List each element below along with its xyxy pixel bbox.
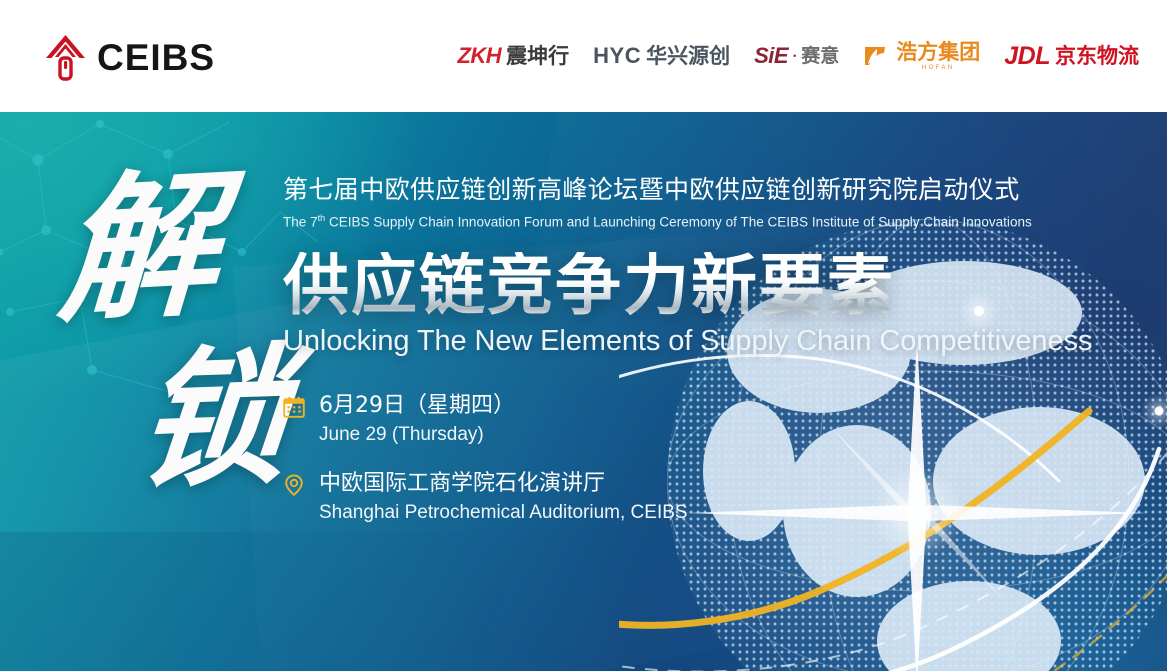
sponsor-sie-latin: SiE bbox=[754, 45, 788, 67]
event-subtitle-cn: 第七届中欧供应链创新高峰论坛暨中欧供应链创新研究院启动仪式 bbox=[283, 174, 1013, 205]
header-logo-bar: CEIBS ZKH 震坤行 HYC 华兴源创 SiE • 赛意 bbox=[0, 0, 1167, 112]
event-date-row: 6月29日（星期四） June 29 (Thursday) bbox=[283, 392, 1013, 448]
sponsor-sie-chinese: 赛意 bbox=[801, 47, 839, 66]
hofan-leaf-icon bbox=[863, 44, 889, 68]
sponsor-logo-zkh[interactable]: ZKH 震坤行 bbox=[457, 39, 569, 73]
network-nodes-icon bbox=[0, 112, 320, 402]
sponsor-zkh-latin: ZKH bbox=[457, 45, 501, 67]
sponsor-logo-sie[interactable]: SiE • 赛意 bbox=[754, 39, 839, 73]
sponsor-logo-jdl[interactable]: JDL 京东物流 bbox=[1004, 39, 1139, 73]
event-date-cn: 6月29日（星期四） bbox=[319, 392, 515, 420]
sponsor-hyc-latin: HYC bbox=[593, 45, 641, 67]
ceibs-wordmark: CEIBS bbox=[97, 39, 215, 76]
event-details: 6月29日（星期四） June 29 (Thursday) 中欧国际工商学院石化… bbox=[283, 392, 1013, 526]
event-subtitle-en: The 7th CEIBS Supply Chain Innovation Fo… bbox=[283, 213, 1013, 230]
event-title-cn: 供应链竞争力新要素 bbox=[283, 252, 1013, 319]
location-pin-icon bbox=[283, 474, 305, 496]
sponsor-zkh-chinese: 震坤行 bbox=[506, 46, 569, 67]
event-date-en: June 29 (Thursday) bbox=[319, 423, 515, 448]
calendar-icon bbox=[283, 396, 305, 418]
event-subtitle-en-pre: The 7 bbox=[283, 215, 318, 230]
event-subtitle-en-post: CEIBS Supply Chain Innovation Forum and … bbox=[325, 215, 1032, 230]
event-hero-banner: 解 锁 第七届中欧供应链创新高峰论坛暨中欧供应链创新研究院启动仪式 The 7t… bbox=[0, 112, 1167, 671]
sponsor-jdl-latin: JDL bbox=[1004, 44, 1050, 69]
sponsor-logo-hyc[interactable]: HYC 华兴源创 bbox=[593, 39, 730, 73]
sponsor-jdl-chinese: 京东物流 bbox=[1055, 46, 1139, 67]
ceibs-gate-icon bbox=[44, 32, 88, 82]
event-venue-row: 中欧国际工商学院石化演讲厅 Shanghai Petrochemical Aud… bbox=[283, 470, 1013, 526]
banner-text-content: 第七届中欧供应链创新高峰论坛暨中欧供应链创新研究院启动仪式 The 7th CE… bbox=[283, 174, 1013, 548]
ceibs-logo[interactable]: CEIBS bbox=[44, 32, 215, 82]
sponsor-sie-dot-icon: • bbox=[793, 51, 796, 61]
event-title-en: Unlocking The New Elements of Supply Cha… bbox=[283, 325, 1013, 358]
sponsor-hofan-chinese: 浩方集团 bbox=[896, 42, 980, 63]
event-venue-cn: 中欧国际工商学院石化演讲厅 bbox=[319, 470, 688, 498]
sponsor-logo-strip: ZKH 震坤行 HYC 华兴源创 SiE • 赛意 浩方集团 HOFAN bbox=[457, 36, 1139, 76]
event-venue-en: Shanghai Petrochemical Auditorium, CEIBS bbox=[319, 501, 688, 526]
sponsor-logo-hofan[interactable]: 浩方集团 HOFAN bbox=[863, 39, 980, 73]
sponsor-hyc-chinese: 华兴源创 bbox=[646, 46, 730, 67]
sponsor-hofan-sub: HOFAN bbox=[896, 65, 980, 71]
